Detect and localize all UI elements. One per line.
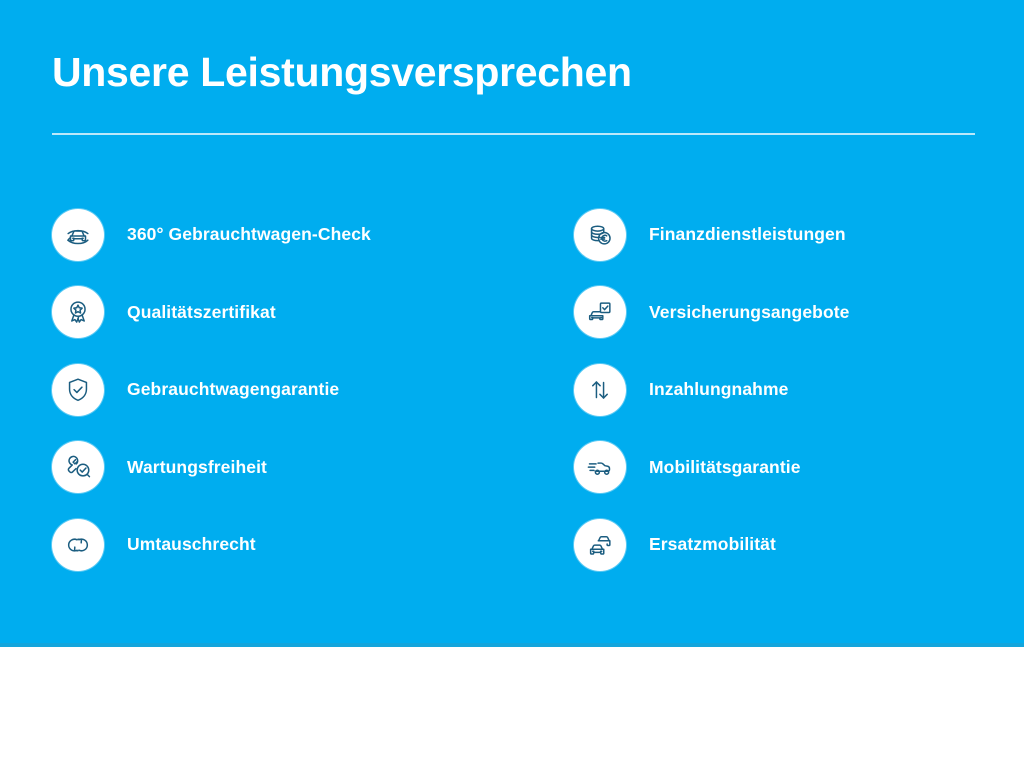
- feature-item[interactable]: Versicherungsangebote: [574, 274, 1004, 352]
- car-360-check-icon: [52, 209, 104, 261]
- feature-label: Versicherungsangebote: [649, 302, 850, 323]
- exchange-arrows-icon: [52, 519, 104, 571]
- car-motion-icon: [574, 441, 626, 493]
- feature-item[interactable]: Qualitätszertifikat: [52, 274, 522, 352]
- feature-column-right: Finanzdienstleistungen Versicherungsange…: [574, 196, 1004, 596]
- feature-label: Qualitätszertifikat: [127, 302, 276, 323]
- coins-euro-icon: [574, 209, 626, 261]
- features-grid: 360° Gebrauchtwagen-Check Qualitätszerti…: [0, 196, 1024, 596]
- feature-label: Umtauschrecht: [127, 534, 256, 555]
- shield-check-icon: [52, 364, 104, 416]
- feature-label: Inzahlungnahme: [649, 379, 788, 400]
- car-document-check-icon: [574, 286, 626, 338]
- wrench-check-icon: [52, 441, 104, 493]
- two-cars-icon: [574, 519, 626, 571]
- feature-item[interactable]: Umtauschrecht: [52, 506, 522, 584]
- feature-label: Mobilitätsgarantie: [649, 457, 801, 478]
- feature-label: Wartungsfreiheit: [127, 457, 267, 478]
- arrows-up-down-icon: [574, 364, 626, 416]
- footer-bar: Hülpert Planetenfeldstraße: [0, 647, 1024, 768]
- feature-item[interactable]: Wartungsfreiheit: [52, 429, 522, 507]
- feature-label: Ersatzmobilität: [649, 534, 776, 555]
- feature-item[interactable]: Inzahlungnahme: [574, 351, 1004, 429]
- slide-root: Unsere Leistungsversprechen 360° Gebr: [0, 0, 1024, 768]
- feature-item[interactable]: Mobilitätsgarantie: [574, 429, 1004, 507]
- award-rosette-icon: [52, 286, 104, 338]
- feature-item[interactable]: Finanzdienstleistungen: [574, 196, 1004, 274]
- feature-item[interactable]: 360° Gebrauchtwagen-Check: [52, 196, 522, 274]
- feature-column-left: 360° Gebrauchtwagen-Check Qualitätszerti…: [52, 196, 522, 596]
- title-divider: [52, 133, 975, 135]
- feature-label: Gebrauchtwagengarantie: [127, 379, 339, 400]
- feature-item[interactable]: Gebrauchtwagengarantie: [52, 351, 522, 429]
- feature-item[interactable]: Ersatzmobilität: [574, 506, 1004, 584]
- feature-label: Finanzdienstleistungen: [649, 224, 846, 245]
- page-title: Unsere Leistungsversprechen: [52, 50, 632, 96]
- feature-label: 360° Gebrauchtwagen-Check: [127, 224, 371, 245]
